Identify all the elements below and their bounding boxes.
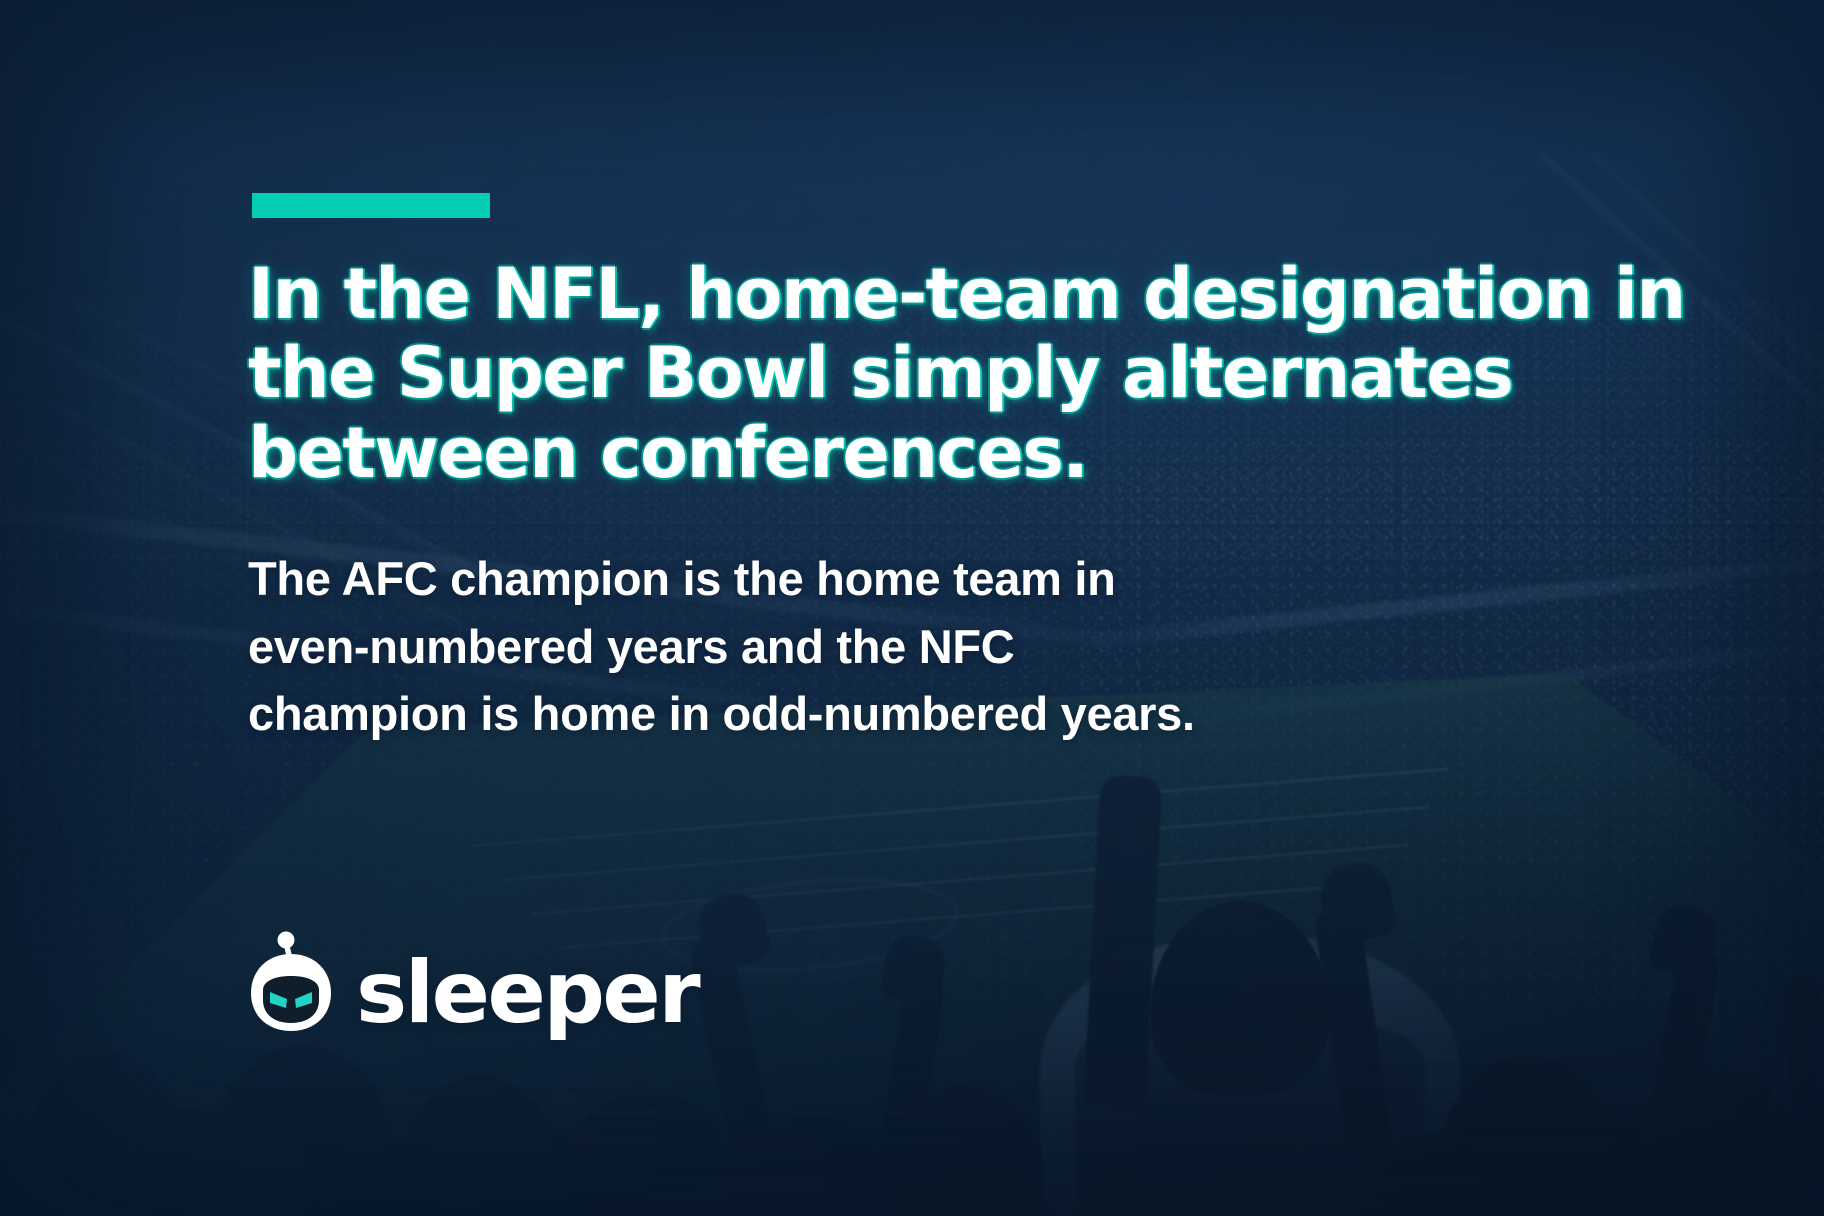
fact-card: In the NFL, home-team designation in the… — [0, 0, 1824, 1216]
sleeper-wordmark: sleeper — [356, 950, 698, 1036]
subheadline-line: champion is home in odd-numbered years. — [248, 680, 1528, 748]
headline: In the NFL, home-team designation in the… — [248, 255, 1588, 493]
headline-line: between conferences. — [248, 414, 1588, 493]
subheadline: The AFC champion is the home team in eve… — [248, 545, 1528, 748]
headline-line: In the NFL, home-team designation in — [248, 255, 1588, 334]
sleeper-robot-mascot-icon — [232, 930, 350, 1048]
subheadline-line: even-numbered years and the NFC — [248, 613, 1528, 681]
content-block: In the NFL, home-team designation in the… — [252, 0, 1652, 1216]
accent-rule — [252, 193, 490, 218]
sleeper-logo[interactable]: sleeper — [232, 930, 698, 1048]
subheadline-line: The AFC champion is the home team in — [248, 545, 1528, 613]
headline-line: the Super Bowl simply alternates — [248, 334, 1588, 413]
